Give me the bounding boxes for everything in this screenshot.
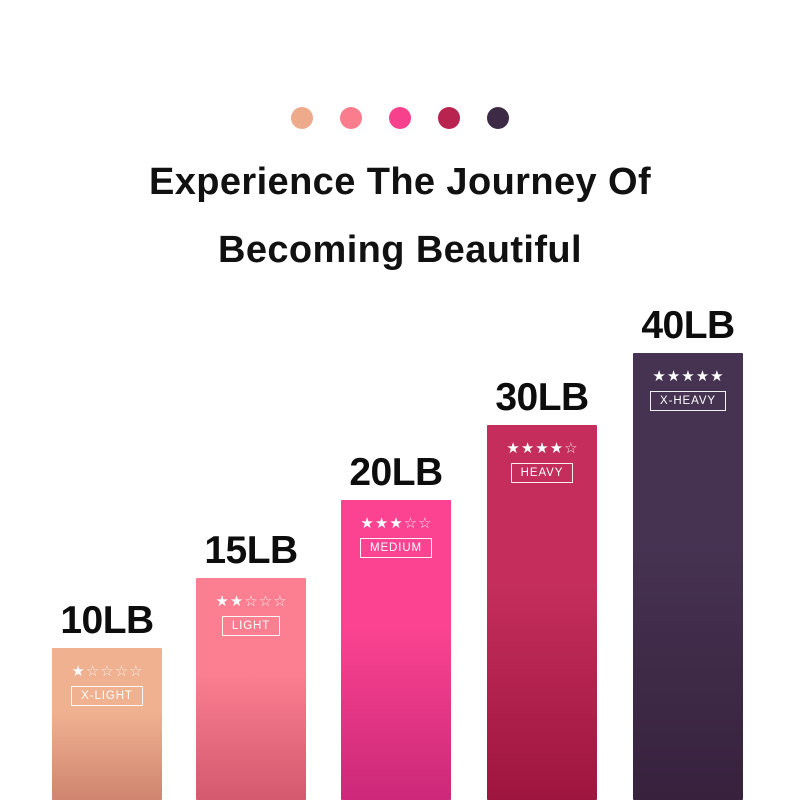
- bar-group-x-heavy[interactable]: 40LB★★★★★X-HEAVY: [633, 353, 743, 800]
- star-filled-icon: ★: [652, 369, 665, 384]
- star-empty-icon: ☆: [115, 664, 128, 679]
- star-empty-icon: ☆: [418, 516, 431, 531]
- star-filled-icon: ★: [667, 369, 680, 384]
- dot-light-icon: [340, 107, 362, 129]
- bar-weight-label-light: 15LB: [204, 530, 297, 572]
- bar-weight-label-medium: 20LB: [349, 452, 442, 494]
- star-empty-icon: ☆: [259, 594, 272, 609]
- bar-meta-medium: ★★★☆☆MEDIUM: [341, 516, 451, 558]
- bar-meta-x-heavy: ★★★★★X-HEAVY: [633, 369, 743, 411]
- star-rating-x-heavy: ★★★★★: [652, 369, 723, 384]
- star-empty-icon: ☆: [129, 664, 142, 679]
- star-filled-icon: ★: [521, 441, 534, 456]
- page-title: Experience The Journey Of Becoming Beaut…: [0, 148, 800, 284]
- star-empty-icon: ☆: [100, 664, 113, 679]
- bar-fill-x-heavy[interactable]: [633, 353, 743, 800]
- star-rating-heavy: ★★★★☆: [506, 441, 577, 456]
- dot-x-heavy-icon: [487, 107, 509, 129]
- star-filled-icon: ★: [360, 516, 373, 531]
- star-filled-icon: ★: [535, 441, 548, 456]
- tier-badge-heavy: HEAVY: [511, 463, 574, 483]
- star-filled-icon: ★: [389, 516, 402, 531]
- bar-group-medium[interactable]: 20LB★★★☆☆MEDIUM: [341, 500, 451, 800]
- headline-line-2: Becoming Beautiful: [0, 216, 800, 284]
- dot-heavy-icon: [438, 107, 460, 129]
- bar-weight-label-x-light: 10LB: [60, 600, 153, 642]
- star-empty-icon: ☆: [86, 664, 99, 679]
- tier-badge-medium: MEDIUM: [360, 538, 432, 558]
- bar-group-x-light[interactable]: 10LB★☆☆☆☆X-LIGHT: [52, 648, 162, 800]
- bar-weight-label-x-heavy: 40LB: [641, 305, 734, 347]
- star-empty-icon: ☆: [273, 594, 286, 609]
- tier-badge-x-light: X-LIGHT: [71, 686, 143, 706]
- bar-meta-light: ★★☆☆☆LIGHT: [196, 594, 306, 636]
- star-filled-icon: ★: [696, 369, 709, 384]
- star-filled-icon: ★: [710, 369, 723, 384]
- star-filled-icon: ★: [215, 594, 228, 609]
- star-rating-medium: ★★★☆☆: [360, 516, 431, 531]
- bar-weight-label-heavy: 30LB: [495, 377, 588, 419]
- tier-badge-light: LIGHT: [222, 616, 280, 636]
- tier-badge-x-heavy: X-HEAVY: [650, 391, 726, 411]
- headline-line-1: Experience The Journey Of: [0, 148, 800, 216]
- bar-meta-x-light: ★☆☆☆☆X-LIGHT: [52, 664, 162, 706]
- star-empty-icon: ☆: [564, 441, 577, 456]
- star-empty-icon: ☆: [404, 516, 417, 531]
- star-filled-icon: ★: [71, 664, 84, 679]
- star-filled-icon: ★: [230, 594, 243, 609]
- star-rating-light: ★★☆☆☆: [215, 594, 286, 609]
- bar-group-heavy[interactable]: 30LB★★★★☆HEAVY: [487, 425, 597, 800]
- star-empty-icon: ☆: [244, 594, 257, 609]
- star-filled-icon: ★: [506, 441, 519, 456]
- bar-group-light[interactable]: 15LB★★☆☆☆LIGHT: [196, 578, 306, 800]
- star-filled-icon: ★: [375, 516, 388, 531]
- star-rating-x-light: ★☆☆☆☆: [71, 664, 142, 679]
- poster-canvas: Experience The Journey Of Becoming Beaut…: [0, 0, 800, 800]
- star-filled-icon: ★: [681, 369, 694, 384]
- dot-x-light-icon: [291, 107, 313, 129]
- bar-meta-heavy: ★★★★☆HEAVY: [487, 441, 597, 483]
- dot-medium-icon: [389, 107, 411, 129]
- star-filled-icon: ★: [550, 441, 563, 456]
- decorative-dot-row: [0, 107, 800, 129]
